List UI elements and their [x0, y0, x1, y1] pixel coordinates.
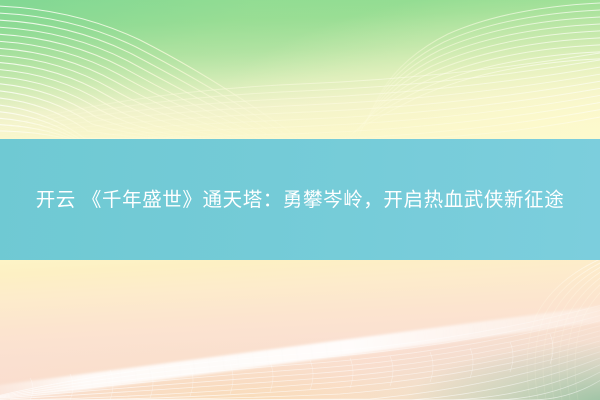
title-banner: 开云 《千年盛世》通天塔：勇攀岑岭，开启热血武侠新征途 [0, 139, 600, 260]
banner-text-wrapper: 开云 《千年盛世》通天塔：勇攀岑岭，开启热血武侠新征途 [20, 183, 580, 217]
bottom-decorative-panel [0, 260, 600, 400]
top-arc-pattern-icon [0, 0, 600, 139]
promo-banner-card: 开云 《千年盛世》通天塔：勇攀岑岭，开启热血武侠新征途 [0, 0, 600, 400]
banner-title: 开云 《千年盛世》通天塔：勇攀岑岭，开启热血武侠新征途 [20, 183, 580, 217]
top-decorative-panel [0, 0, 600, 139]
